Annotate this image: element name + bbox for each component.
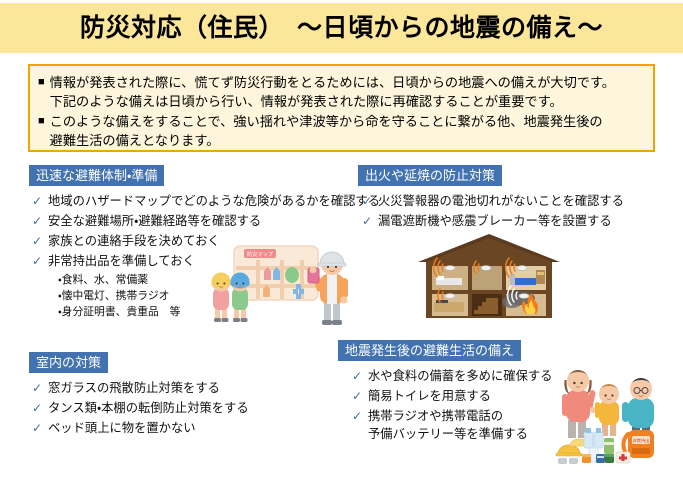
list-item: ✓ 地域のハザードマップでどのような危険があるかを確認する <box>32 192 352 210</box>
list-item: ✓ ベッド頭上に物を置かない <box>32 419 332 437</box>
section-header-evacuation: 迅速な避難体制・準備 <box>29 165 164 186</box>
intro-summary-box: ■ 情報が発表された際に、慌てず防災行動をとるためには、日頃からの地震への備えが… <box>28 64 655 152</box>
list-item: ✓ 窓ガラスの飛散防止対策をする <box>32 379 332 397</box>
intro-line: このような備えをすることで、強い揺れや津波等から命を守ることに繋がる他、地震発生… <box>50 114 603 129</box>
intro-line: 情報が発表された際に、慌てず防災行動をとるためには、日頃からの地震への備えが大切… <box>50 75 615 90</box>
check-icon: ✓ <box>32 192 48 210</box>
section-header-post-quake-life: 地震発生後の避難生活の備え <box>338 340 521 361</box>
square-bullet-icon: ■ <box>38 112 45 131</box>
intro-bullet: ■ 情報が発表された際に、慌てず防災行動をとるためには、日頃からの地震への備えが… <box>38 73 645 111</box>
section-header-indoor-measures: 室内の対策 <box>29 352 108 373</box>
list-item: ✓ 簡易トイレを用意する <box>352 387 582 405</box>
list-item-label: 水や食料の備蓄を多めに確保する <box>368 367 582 385</box>
list-item-label: 簡易トイレを用意する <box>368 387 582 405</box>
check-icon: ✓ <box>32 232 48 250</box>
check-icon: ✓ <box>352 367 368 385</box>
intro-line: 避難生活の備えとなります。 <box>50 133 220 148</box>
list-item-label: 火災警報器の電池切れがないことを確認する <box>378 192 662 210</box>
page-title: 防災対応（住民） ～日頃からの地震の備え～ <box>0 3 683 53</box>
list-item: ✓ タンス類・本棚の転倒防止対策をする <box>32 399 332 417</box>
check-icon: ✓ <box>32 252 48 270</box>
list-item-label: 漏電遮断機や感震ブレーカー等を設置する <box>378 212 662 230</box>
hazard-map-illustration: 防災マップ <box>212 240 354 328</box>
svg-text:防災マップ: 防災マップ <box>247 250 274 258</box>
list-item-label: ベッド頭上に物を置かない <box>48 419 332 437</box>
intro-bullet: ■ このような備えをすることで、強い揺れや津波等から命を守ることに繋がる他、地震… <box>38 112 645 150</box>
list-item-label-line1: 携帯ラジオや携帯電話の <box>368 407 582 425</box>
check-icon: ✓ <box>362 192 378 210</box>
list-item-label: タンス類・本棚の転倒防止対策をする <box>48 399 332 417</box>
intro-bullet-lines: このような備えをすることで、強い揺れや津波等から命を守ることに繋がる他、地震発生… <box>50 112 645 150</box>
family-supplies-illustration: 非常持出 <box>552 368 674 468</box>
check-icon: ✓ <box>32 212 48 230</box>
check-icon: ✓ <box>352 387 368 405</box>
check-icon: ✓ <box>32 379 48 397</box>
check-icon: ✓ <box>352 407 368 425</box>
check-icon: ✓ <box>32 399 48 417</box>
checklist-indoor-measures: ✓ 窓ガラスの飛散防止対策をする ✓ タンス類・本棚の転倒防止対策をする ✓ ベ… <box>32 379 332 439</box>
checklist-post-quake-life: ✓ 水や食料の備蓄を多めに確保する ✓ 簡易トイレを用意する ✓ 携帯ラジオや携… <box>352 367 582 445</box>
list-item: ✓ 漏電遮断機や感震ブレーカー等を設置する <box>362 212 662 230</box>
square-bullet-icon: ■ <box>38 73 45 92</box>
list-item-label: 窓ガラスの飛散防止対策をする <box>48 379 332 397</box>
list-item: ✓ 携帯ラジオや携帯電話の 予備バッテリー等を準備する <box>352 407 582 443</box>
list-item-label-multiline: 携帯ラジオや携帯電話の 予備バッテリー等を準備する <box>368 407 582 443</box>
list-item: ✓ 安全な避難場所・避難経路等を確認する <box>32 212 352 230</box>
list-item-label: 地域のハザードマップでどのような危険があるかを確認する <box>48 192 380 210</box>
checklist-fire-prevention: ✓ 火災警報器の電池切れがないことを確認する ✓ 漏電遮断機や感震ブレーカー等を… <box>362 192 662 232</box>
intro-bullet-lines: 情報が発表された際に、慌てず防災行動をとるためには、日頃からの地震への備えが大切… <box>50 73 645 111</box>
section-header-fire-prevention: 出火や延焼の防止対策 <box>358 165 502 186</box>
title-band: 防災対応（住民） ～日頃からの地震の備え～ <box>0 3 683 53</box>
house-fire-alarm-illustration <box>412 232 567 324</box>
list-item-label: 安全な避難場所・避難経路等を確認する <box>48 212 352 230</box>
svg-text:非常持出: 非常持出 <box>633 437 650 444</box>
list-item-label-line2: 予備バッテリー等を準備する <box>368 425 582 443</box>
list-item: ✓ 水や食料の備蓄を多めに確保する <box>352 367 582 385</box>
list-item: ✓ 火災警報器の電池切れがないことを確認する <box>362 192 662 210</box>
intro-line: 下記のような備えは日頃から行い、情報が発表された際に再確認することが重要です。 <box>50 94 563 109</box>
check-icon: ✓ <box>362 212 378 230</box>
check-icon: ✓ <box>32 419 48 437</box>
